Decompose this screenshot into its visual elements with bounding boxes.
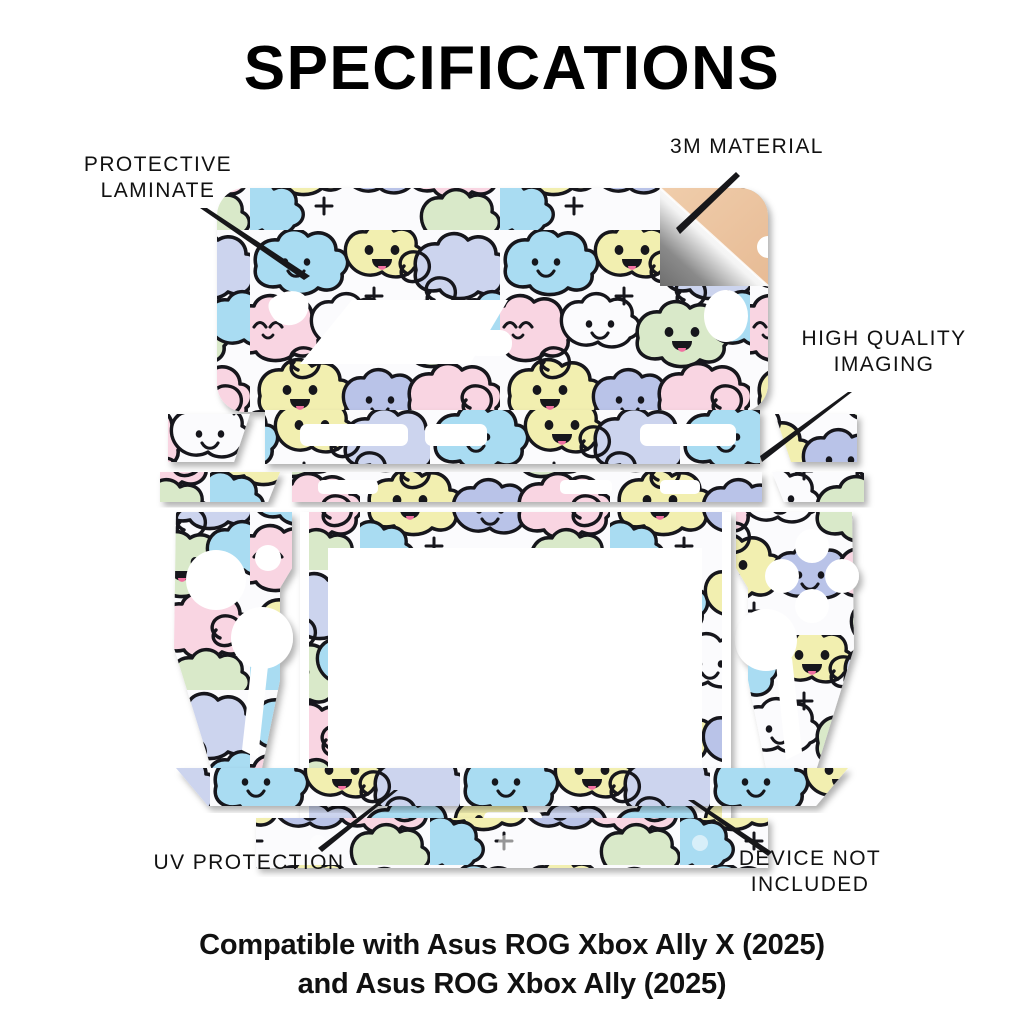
- skin-piece-secondary-strip-right: [772, 472, 864, 502]
- skin-piece-secondary-strip-center: [292, 472, 762, 502]
- skin-piece-right-grip: [735, 512, 859, 790]
- callout-device-not-included: DEVICE NOT INCLUDED: [690, 846, 930, 899]
- skin-piece-left-trapezoid-strip: [168, 414, 250, 462]
- callout-uv-protection: UV PROTECTION: [104, 850, 394, 876]
- callout-3m-material: 3M MATERIAL: [670, 134, 922, 160]
- leader-line-uv-protection: [318, 790, 398, 852]
- callout-protective-laminate: PROTECTIVE LAMINATE: [36, 152, 280, 205]
- skin-piece-top-edge-strip: [265, 410, 760, 464]
- skin-piece-left-grip: [174, 512, 293, 790]
- callout-high-quality-imaging: HIGH QUALITY IMAGING: [768, 326, 1000, 379]
- compatibility-text: Compatible with Asus ROG Xbox Ally X (20…: [0, 926, 1024, 1004]
- leader-line-protective-laminate: [200, 208, 310, 280]
- leader-line-high-quality-imaging: [760, 392, 852, 462]
- leader-line-3m-material: [676, 172, 740, 234]
- skin-piece-secondary-strip: [160, 472, 280, 502]
